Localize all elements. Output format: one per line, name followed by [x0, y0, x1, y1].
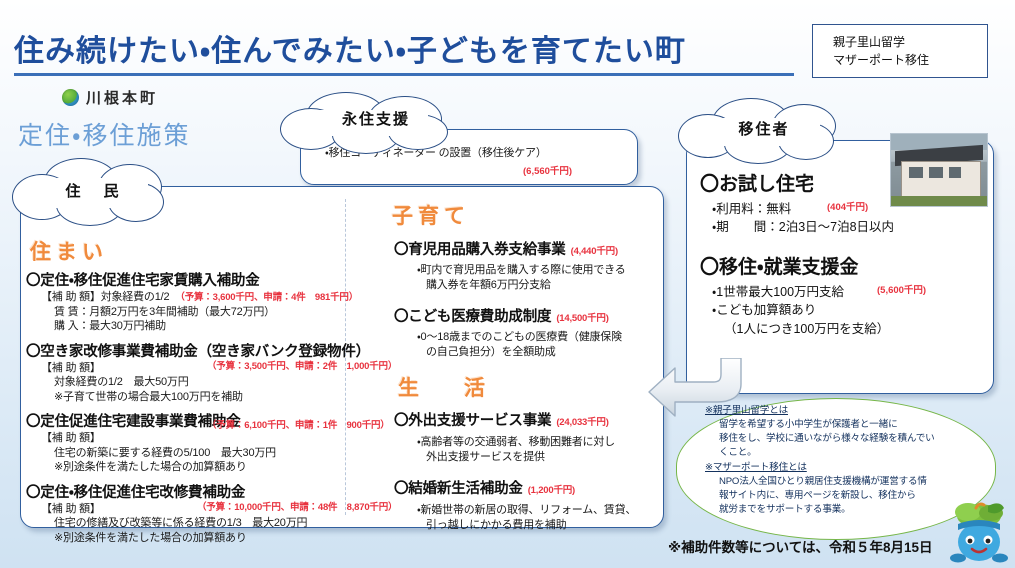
cloud-eiju-shien: 永住支援	[276, 92, 476, 154]
item-line: ・新婚世帯の新居の取得、リフォーム、賃貸、	[394, 503, 656, 518]
town-mascot-icon	[948, 500, 1010, 564]
list-item: 〇定住促進住宅建設事業費補助金 【補 助 額】（予算：6,100千円、申請：1件…	[26, 410, 404, 475]
item-line: ・0～18歳までのこどもの医療費（健康保険	[394, 330, 656, 345]
item-budget: （予算：3,600千円、申請：4件 981千円）	[175, 292, 358, 303]
item-line: ※子育て世帯の場合最大100万円を補助	[26, 390, 404, 405]
item-line: 住宅の新築に要する経費の5/100 最大30万円	[26, 446, 404, 461]
item-budget: (4,440千円)	[571, 243, 618, 257]
list-item: 〇育児用品購入券支給事業 (4,440千円) ・町内で育児用品を購入する際に使用…	[394, 238, 656, 292]
item-line: 対象経費の1/2 最大50万円	[26, 375, 404, 390]
list-item: 〇移住・就業支援金 ・1世帯最大100万円支給 (5,600千円) ・こども加算…	[700, 252, 980, 337]
section-heading-kosodate: 子育て	[392, 200, 470, 230]
town-logo-label: 川根本町	[86, 87, 158, 108]
page-subtitle: 定住・移住施策	[18, 116, 191, 152]
item-line: （1人につき100万円を支給）	[700, 320, 980, 338]
item-line: 賃 賃：月額2万円を3年間補助（最大72万円）	[26, 305, 404, 320]
item-line: 購入券を年額6万円分支給	[394, 278, 656, 293]
green-note-line: くこと。	[705, 446, 973, 460]
program-name-satoyama: 親子里山留学	[833, 33, 987, 51]
list-item: 〇結婚新生活補助金 (1,200千円) ・新婚世帯の新居の取得、リフォーム、賃貸…	[394, 477, 656, 532]
green-note-line: 報サイト内に、専用ページを新設し、移住から	[705, 489, 973, 503]
sumai-items: 〇定住・移住促進住宅家賃購入補助金 【補 助 額】対象経費の1/2（予算：3,6…	[26, 266, 404, 545]
item-line: 【補 助 額】	[41, 432, 101, 444]
item-budget: (5,600千円)	[877, 284, 926, 298]
item-title: 〇結婚新生活補助金	[394, 477, 523, 498]
item-budget: (14,500千円)	[556, 310, 608, 324]
list-item: 〇空き家改修事業費補助金（空き家バンク登録物件） 【補 助 額】（予算：3,50…	[26, 340, 404, 405]
item-title: 〇こども医療費助成制度	[394, 305, 551, 326]
item-budget: （予算：6,100千円、申請：1件 900千円）	[207, 420, 390, 433]
item-title: 〇空き家改修事業費補助金（空き家バンク登録物件）	[26, 340, 370, 361]
cloud-jumin: 住 民	[10, 158, 178, 230]
item-line: 引っ越しにかかる費用を補助	[394, 518, 656, 533]
item-line: ・こども加算額あり	[700, 301, 980, 319]
list-item: 〇こども医療費助成制度 (14,500千円) ・0～18歳までのこどもの医療費（…	[394, 305, 656, 359]
item-budget: (24,033千円)	[556, 414, 608, 428]
program-name-motherport: マザーポート移住	[833, 51, 987, 69]
item-title: 〇定住・移住促進住宅家賃購入補助金	[26, 269, 260, 290]
green-note-line: 就労までをサポートする事業。	[705, 503, 973, 517]
item-budget: (1,200千円)	[528, 482, 575, 496]
section-heading-seikatsu: 生 活	[398, 372, 497, 402]
eiju-shien-budget: (6,560千円)	[523, 163, 572, 177]
item-line: 住宅の修繕及び改築等に係る経費の1/3 最大20万円	[26, 516, 404, 531]
item-line: ※別途条件を満たした場合の加算額あり	[26, 531, 404, 546]
item-budget: （予算：10,000千円、申請：48件 8,870千円）	[197, 502, 397, 515]
green-note-head2: ※マザーポート移住とは	[705, 461, 973, 475]
item-line: の自己負担分）を全額助成	[394, 345, 656, 360]
item-line: 購 入：最大30万円補助	[26, 319, 404, 334]
cloud-ijusha-label: 移住者	[676, 98, 852, 168]
cloud-ijusha: 移住者	[676, 98, 852, 168]
item-line: ・高齢者等の交通弱者、移動困難者に対し	[394, 435, 656, 450]
green-note-text: ※親子里山留学とは 留学を希望する小中学生が保護者と一緒に 移住をし、学校に通い…	[705, 404, 973, 517]
list-item: 〇定住・移住促進住宅家賃購入補助金 【補 助 額】対象経費の1/2（予算：3,6…	[26, 269, 404, 334]
item-line: ・期 間：2泊3日～7泊8日以内	[700, 218, 980, 236]
green-note-head1: ※親子里山留学とは	[705, 404, 973, 418]
list-item: 〇外出支援サービス事業 (24,033千円) ・高齢者等の交通弱者、移動困難者に…	[394, 409, 656, 464]
item-line: ・町内で育児用品を購入する際に使用できる	[394, 263, 656, 278]
item-line: 【補 助 額】	[41, 503, 101, 515]
infographic-canvas: 住み続けたい・住んでみたい・子どもを育てたい町 川根本町 定住・移住施策 親子里…	[0, 0, 1015, 568]
green-note-line: 移住をし、学校に通いながら様々な経験を積んでい	[705, 432, 973, 446]
item-line: ※別途条件を満たした場合の加算額あり	[26, 460, 404, 475]
item-line: 【補 助 額】	[41, 362, 101, 374]
section-heading-sumai: 住まい	[30, 236, 108, 266]
trial-house-photo	[890, 133, 988, 207]
green-note-line: 留学を希望する小中学生が保護者と一緒に	[705, 418, 973, 432]
town-logo-icon	[62, 89, 79, 106]
cloud-jumin-label: 住 民	[10, 158, 178, 230]
seikatsu-items: 〇外出支援サービス事業 (24,033千円) ・高齢者等の交通弱者、移動困難者に…	[394, 406, 656, 532]
list-item: 〇定住・移住促進住宅改修費補助金 【補 助 額】（予算：10,000千円、申請：…	[26, 481, 404, 546]
green-note-line: NPO法人全国ひとり親居住支援機構が運営する情	[705, 475, 973, 489]
item-line: ・1世帯最大100万円支給	[712, 285, 844, 299]
town-logo: 川根本町	[62, 87, 158, 108]
kosodate-items: 〇育児用品購入券支給事業 (4,440千円) ・町内で育児用品を購入する際に使用…	[394, 235, 656, 359]
item-title: 〇育児用品購入券支給事業	[394, 238, 566, 259]
item-budget: (404千円)	[827, 201, 868, 215]
item-title: 〇定住・移住促進住宅改修費補助金	[26, 481, 245, 502]
item-line: ・利用料：無料	[712, 202, 791, 216]
program-names-box: 親子里山留学 マザーポート移住	[812, 24, 988, 78]
item-title: 〇外出支援サービス事業	[394, 409, 551, 430]
item-title: 〇移住・就業支援金	[700, 252, 980, 279]
cloud-eiju-shien-label: 永住支援	[276, 92, 476, 154]
page-title: 住み続けたい・住んでみたい・子どもを育てたい町	[14, 26, 794, 76]
item-line: 【補 助 額】対象経費の1/2	[41, 291, 169, 303]
item-budget: （予算：3,500千円、申請：2件 1,000千円）	[207, 361, 397, 374]
footer-note: ※補助件数等については、令和５年8月15日	[668, 536, 932, 556]
item-line: 外出支援サービスを提供	[394, 450, 656, 465]
